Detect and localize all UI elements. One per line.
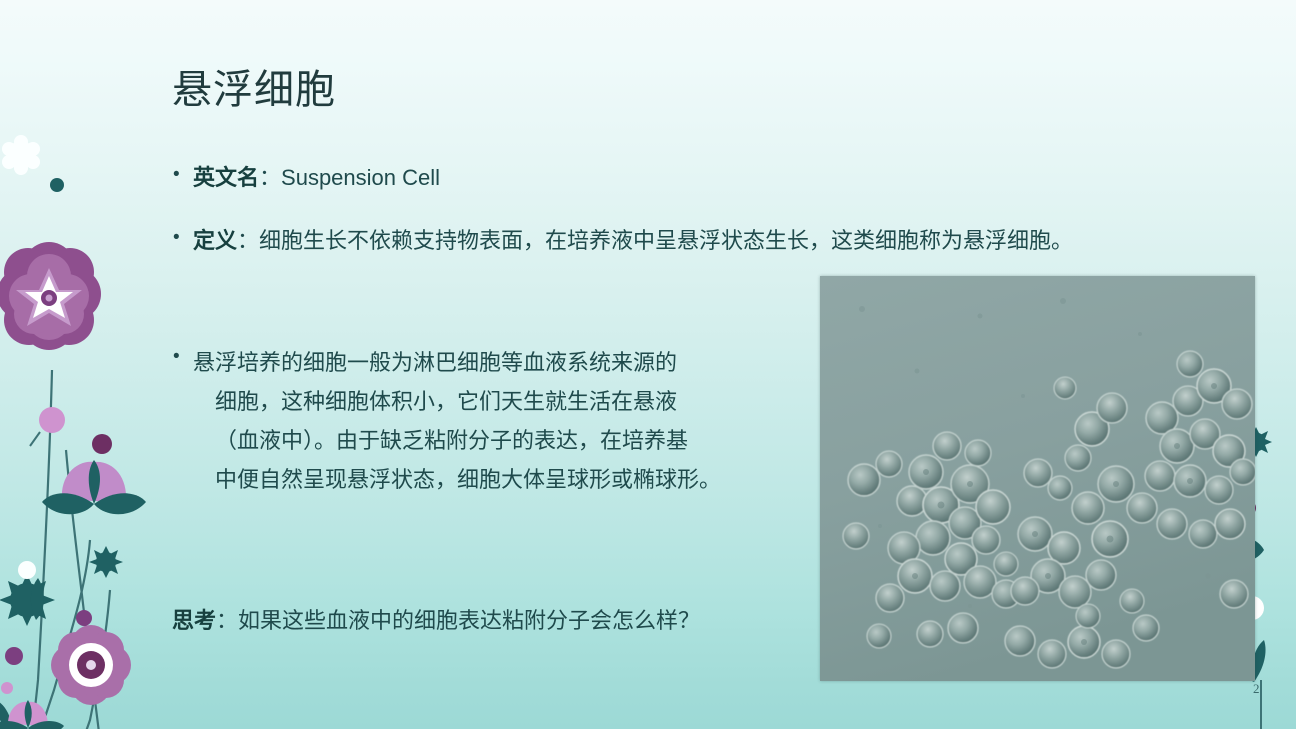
- bullet-text: 定义：细胞生长不依赖支持物表面，在培养液中呈悬浮状态生长，这类细胞称为悬浮细胞。: [193, 224, 1073, 258]
- suspension-cell-micrograph: [820, 276, 1255, 681]
- bullet-value: 细胞生长不依赖支持物表面，在培养液中呈悬浮状态生长，这类细胞称为悬浮细胞。: [259, 228, 1073, 253]
- bullet-line-2: 细胞，这种细胞体积小，它们天生就生活在悬液: [193, 382, 721, 421]
- decor-dot: [92, 434, 112, 454]
- bullet-value: Suspension Cell: [281, 165, 440, 190]
- bullet-item-suspension-culture: • 悬浮培养的细胞一般为淋巴细胞等血液系统来源的 细胞，这种细胞体积小，它们天生…: [173, 343, 873, 500]
- bullet-item-definition: • 定义：细胞生长不依赖支持物表面，在培养液中呈悬浮状态生长，这类细胞称为悬浮细…: [173, 224, 1153, 258]
- bullet-line-3: （血液中）。由于缺乏粘附分子的表达，在培养基: [193, 421, 721, 460]
- bullet-separator: ：: [259, 165, 281, 190]
- bullet-line-4: 中便自然呈现悬浮状态，细胞大体呈球形或椭球形。: [193, 460, 721, 499]
- question-text: 如果这些血液中的细胞表达粘附分子会怎么样？: [238, 608, 700, 633]
- decor-dot: [50, 178, 64, 192]
- question-label: 思考: [172, 608, 216, 633]
- decor-star: [89, 546, 123, 578]
- bullet-separator: ：: [237, 228, 259, 253]
- bullet-marker: •: [173, 224, 189, 252]
- bullet-marker: •: [173, 343, 189, 371]
- page-number: 2: [1253, 681, 1260, 697]
- bullet-line-1: 悬浮培养的细胞一般为淋巴细胞等血液系统来源的: [193, 350, 677, 375]
- page-title: 悬浮细胞: [172, 66, 336, 114]
- decor-star: [0, 574, 55, 626]
- slide-canvas: 悬浮细胞 • 英文名：Suspension Cell • 定义：细胞生长不依赖支…: [0, 0, 1296, 729]
- question-separator: ：: [216, 608, 238, 633]
- bullet-text: 悬浮培养的细胞一般为淋巴细胞等血液系统来源的 细胞，这种细胞体积小，它们天生就生…: [193, 343, 721, 500]
- bullet-text: 英文名：Suspension Cell: [193, 161, 440, 194]
- thinking-question: 思考：如果这些血液中的细胞表达粘附分子会怎么样？: [172, 606, 700, 637]
- bullet-label: 定义: [193, 228, 237, 253]
- bullet-item-english-name: • 英文名：Suspension Cell: [173, 161, 873, 194]
- bullet-label: 英文名: [193, 165, 259, 190]
- left-floral-decoration: [0, 120, 174, 729]
- bullet-marker: •: [173, 161, 189, 189]
